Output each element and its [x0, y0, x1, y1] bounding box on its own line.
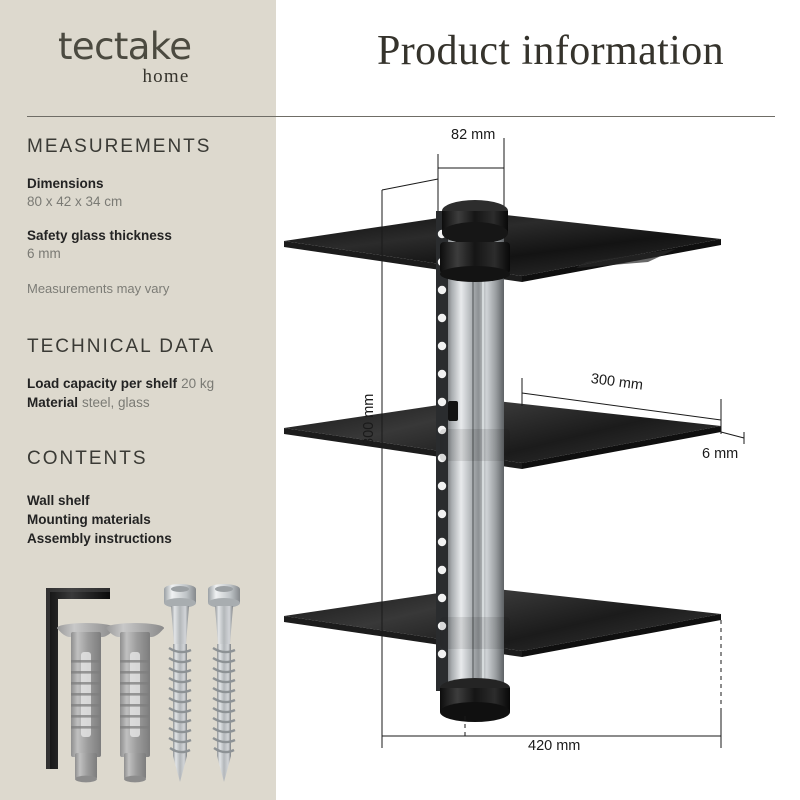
page-title: Product information — [377, 27, 724, 75]
section-heading-measurements: MEASUREMENTS — [27, 136, 211, 158]
dimension-label-total-height: 800 mm — [361, 394, 377, 446]
column-base-cap — [440, 678, 510, 722]
entry-load-capacity-label: Load capacity per shelf — [27, 376, 177, 391]
column-top-cap — [442, 200, 508, 244]
brand-name: tectake — [58, 28, 191, 65]
entry-dimensions-label: Dimensions — [27, 175, 122, 193]
contents-list: Wall shelf Mounting materials Assembly i… — [27, 491, 172, 548]
list-item: Mounting materials — [27, 510, 172, 529]
entry-glass-thickness-value: 6 mm — [27, 245, 172, 263]
list-item: Wall shelf — [27, 491, 172, 510]
screw-icon-1 — [164, 584, 196, 782]
sidebar: tectake home MEASUREMENTS Dimensions 80 … — [0, 0, 276, 800]
brand-logo: tectake home — [58, 28, 191, 86]
dimension-label-shelf-width: 420 mm — [528, 738, 580, 754]
shelf-collar-middle — [440, 429, 510, 461]
dimension-label-glass-thickness: 6 mm — [702, 446, 738, 462]
screw-icon-2 — [208, 584, 240, 782]
list-item: Assembly instructions — [27, 529, 172, 548]
measurements-note: Measurements may vary — [27, 281, 169, 296]
section-heading-technical-data: TECHNICAL DATA — [27, 336, 215, 358]
entry-dimensions-value: 80 x 42 x 34 cm — [27, 193, 122, 211]
product-information-sheet: tectake home MEASUREMENTS Dimensions 80 … — [0, 0, 800, 800]
shelf-collar-top — [440, 242, 510, 282]
entry-glass-thickness-label: Safety glass thickness — [27, 227, 172, 245]
product-diagram: 82 mm 300 mm 6 mm 800 mm 420 mm — [276, 116, 800, 800]
entry-dimensions: Dimensions 80 x 42 x 34 cm — [27, 175, 122, 211]
section-heading-contents: CONTENTS — [27, 448, 148, 470]
entry-material: Materialsteel, glass — [27, 393, 214, 412]
shelf-collar-bottom — [440, 617, 510, 649]
entry-load-capacity: Load capacity per shelf20 kg — [27, 374, 214, 393]
entry-load-capacity-value: 20 kg — [177, 376, 214, 391]
entry-glass-thickness: Safety glass thickness 6 mm — [27, 227, 172, 263]
wall-plug-icon-1 — [57, 623, 115, 782]
wall-plug-icon-2 — [106, 623, 164, 782]
dimension-label-column-width: 82 mm — [451, 127, 495, 143]
hardware-illustrations — [20, 560, 270, 790]
brand-sub: home — [58, 67, 191, 86]
entry-material-label: Material — [27, 395, 78, 410]
entry-material-value: steel, glass — [78, 395, 150, 410]
technical-data-entries: Load capacity per shelf20 kg Materialste… — [27, 374, 214, 412]
